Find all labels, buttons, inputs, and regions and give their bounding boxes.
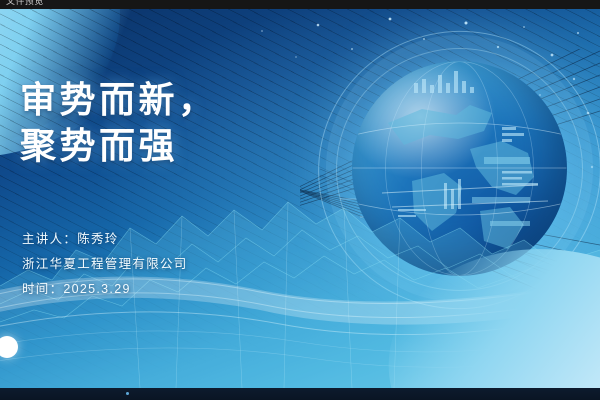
presenter-line: 主讲人：陈秀玲	[22, 227, 188, 252]
preview-title-label: 文件预览	[6, 0, 44, 7]
preview-bottom-bar	[0, 388, 600, 400]
slide-meta-block: 主讲人：陈秀玲 浙江华夏工程管理有限公司 时间：2025.3.29	[22, 227, 188, 302]
document-preview-viewer: 文件预览	[0, 0, 600, 400]
bottom-bar-dot	[126, 392, 129, 395]
organization-line: 浙江华夏工程管理有限公司	[22, 252, 188, 277]
date-line: 时间：2025.3.29	[22, 277, 188, 302]
slide-headline: 审势而新， 聚势而强	[20, 77, 218, 168]
slide-canvas: 审势而新， 聚势而强 主讲人：陈秀玲 浙江华夏工程管理有限公司 时间：2025.…	[0, 9, 600, 388]
preview-title-bar: 文件预览	[0, 0, 600, 9]
